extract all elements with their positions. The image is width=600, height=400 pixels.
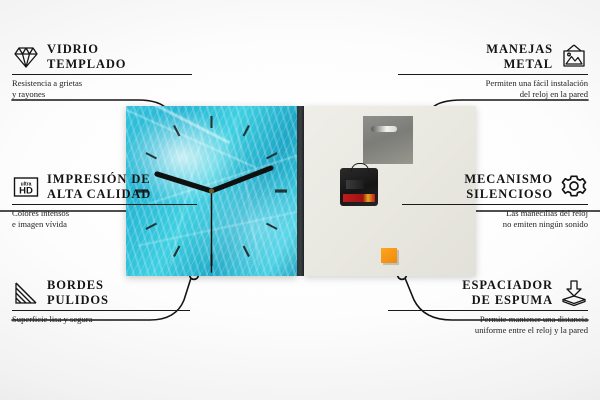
clock-side-edge [297, 106, 304, 276]
feature-title-line1: MANEJAS [486, 42, 553, 56]
feature-title-line2: TEMPLADO [47, 57, 126, 72]
feature-title: IMPRESIÓN DE ALTA CALIDAD [47, 172, 151, 201]
mechanism-hook [351, 163, 369, 172]
metal-hanger-plate [363, 116, 413, 164]
feature-title: BORDES PULIDOS [47, 278, 109, 307]
feature-divider [12, 204, 197, 205]
feature-title-line1: VIDRIO [47, 42, 99, 56]
ultra-hd-icon: ultra HD [12, 173, 40, 201]
feature-header: ultra HD IMPRESIÓN DE ALTA CALIDAD [12, 172, 197, 201]
feature-desc-line2: del reloj en la pared [398, 89, 588, 100]
picture-frame-icon [560, 43, 588, 71]
feature-divider [12, 74, 192, 75]
feature-desc-line2: uniforme entre el reloj y la pared [388, 325, 588, 336]
clock-center-cap [209, 188, 214, 193]
feature-impresion-alta-calidad: ultra HD IMPRESIÓN DE ALTA CALIDAD Color… [12, 172, 197, 229]
feature-desc-line1: Las manecillas del reloj [506, 208, 588, 218]
foam-spacer-icon [560, 279, 588, 307]
feature-bordes-pulidos: BORDES PULIDOS Superficie lisa y segura [12, 278, 190, 325]
mechanism-label-strip [343, 194, 375, 202]
feature-desc-line1: Colores intensos [12, 208, 69, 218]
feature-header: BORDES PULIDOS [12, 278, 190, 307]
feature-title-line1: BORDES [47, 278, 104, 292]
feature-desc-line2: e imagen vívida [12, 219, 197, 230]
feature-desc-line1: Resistencia a grietas [12, 78, 82, 88]
clock-minute-hand [212, 168, 272, 191]
feature-description: Permite mantener una distancia uniforme … [388, 314, 588, 335]
feature-mecanismo-silencioso: MECANISMO SILENCIOSO Las manecillas del … [402, 172, 588, 229]
feature-desc-line1: Permiten una fácil instalación [486, 78, 588, 88]
feature-description: Resistencia a grietas y rayones [12, 78, 192, 99]
feature-title-line1: IMPRESIÓN DE [47, 172, 151, 186]
hanger-slot [371, 126, 397, 132]
feature-title-line2: METAL [486, 57, 553, 72]
diamond-icon [12, 43, 40, 71]
feature-description: Colores intensos e imagen vívida [12, 208, 197, 229]
feature-title-line2: DE ESPUMA [462, 293, 553, 308]
feature-desc-line1: Superficie lisa y segura [12, 314, 92, 324]
feature-header: MECANISMO SILENCIOSO [402, 172, 588, 201]
feature-header: ESPACIADOR DE ESPUMA [388, 278, 588, 307]
feature-title: ESPACIADOR DE ESPUMA [462, 278, 553, 307]
feature-title: VIDRIO TEMPLADO [47, 42, 126, 71]
feature-header: VIDRIO TEMPLADO [12, 42, 192, 71]
feature-description: Superficie lisa y segura [12, 314, 190, 325]
feature-title-line1: ESPACIADOR [462, 278, 553, 292]
feature-divider [388, 310, 588, 311]
feature-title-line2: SILENCIOSO [464, 187, 553, 202]
infographic-stage: VIDRIO TEMPLADO Resistencia a grietas y … [0, 0, 600, 400]
feature-desc-line2: no emiten ningún sonido [402, 219, 588, 230]
feature-title-line1: MECANISMO [464, 172, 553, 186]
gear-icon [560, 173, 588, 201]
feature-desc-line2: y rayones [12, 89, 192, 100]
feature-description: Las manecillas del reloj no emiten ningú… [402, 208, 588, 229]
mechanism-dial [346, 180, 364, 189]
feature-divider [12, 310, 190, 311]
foam-spacer-square [381, 248, 397, 263]
feature-vidrio-templado: VIDRIO TEMPLADO Resistencia a grietas y … [12, 42, 192, 99]
feature-divider [402, 204, 588, 205]
feature-title: MANEJAS METAL [486, 42, 553, 71]
svg-text:HD: HD [19, 185, 33, 196]
feature-header: MANEJAS METAL [398, 42, 588, 71]
clock-mechanism-box [340, 168, 378, 206]
feature-title-line2: PULIDOS [47, 293, 109, 308]
feature-desc-line1: Permite mantener una distancia [480, 314, 588, 324]
feature-description: Permiten una fácil instalación del reloj… [398, 78, 588, 99]
feature-title-line2: ALTA CALIDAD [47, 187, 151, 202]
feature-title: MECANISMO SILENCIOSO [464, 172, 553, 201]
feature-manejas-metal: MANEJAS METAL Permiten una fácil instala… [398, 42, 588, 99]
feature-divider [398, 74, 588, 75]
polished-edge-icon [12, 279, 40, 307]
feature-espaciador-espuma: ESPACIADOR DE ESPUMA Permite mantener un… [388, 278, 588, 335]
